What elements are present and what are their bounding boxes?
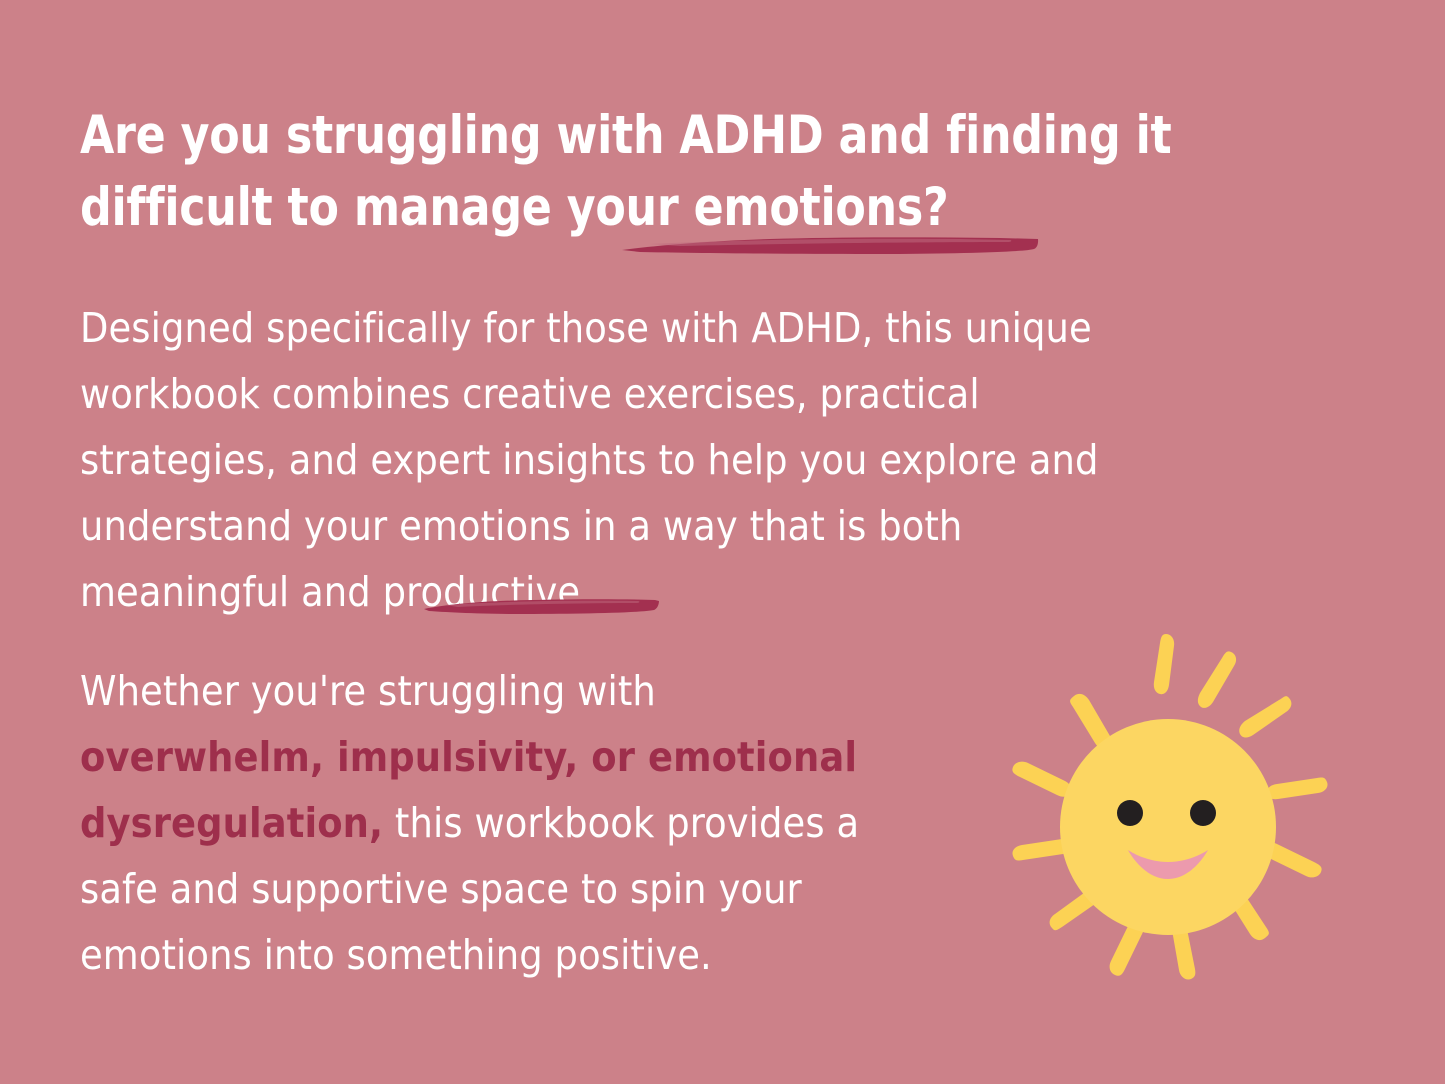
- closing-paragraph-line-3: safe and supportive space to spin your: [80, 856, 1040, 922]
- closing-paragraph: Whether you're struggling with overwhelm…: [80, 658, 1040, 988]
- sun-face: [1060, 719, 1276, 935]
- page-title: Are you struggling with ADHD and finding…: [80, 100, 1224, 244]
- closing-paragraph-line-2-rest: this workbook provides a: [383, 799, 859, 847]
- intro-paragraph: Designed specifically for those with ADH…: [80, 295, 1280, 625]
- emphasis-dysregulation: dysregulation,: [80, 799, 383, 847]
- promo-slide: Are you struggling with ADHD and finding…: [0, 0, 1445, 1084]
- sun-right-eye: [1190, 800, 1216, 826]
- smiling-sun-icon: [963, 622, 1373, 1032]
- closing-paragraph-line-1: Whether you're struggling with: [80, 658, 1040, 724]
- headline-block: Are you struggling with ADHD and finding…: [80, 100, 1310, 244]
- emphasis-overwhelm: overwhelm, impulsivity, or emotional: [80, 733, 857, 781]
- sun-left-eye: [1117, 800, 1143, 826]
- closing-paragraph-line-4: emotions into something positive.: [80, 922, 1040, 988]
